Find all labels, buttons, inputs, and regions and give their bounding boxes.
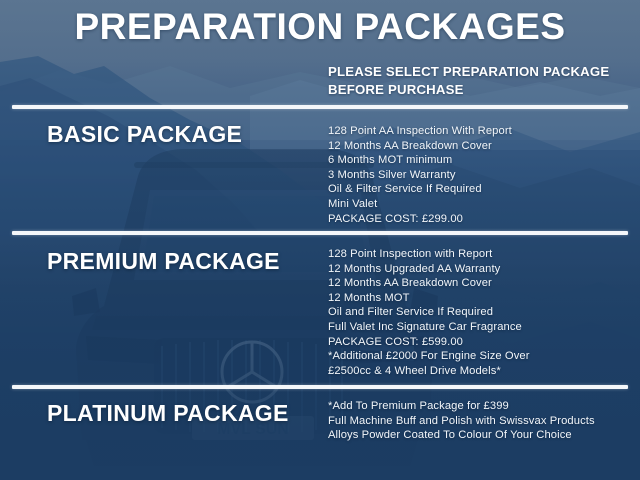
list-item: Oil & Filter Service If Required (328, 182, 512, 197)
package-features-premium: 128 Point Inspection with Report 12 Mont… (328, 247, 530, 378)
preparation-packages-poster: MVL SUN PREPARATION PACKAGES PLEASE SELE… (0, 0, 640, 480)
list-item: 3 Months Silver Warranty (328, 168, 512, 183)
divider-above-basic (12, 105, 628, 109)
selection-instruction: PLEASE SELECT PREPARATION PACKAGE BEFORE… (328, 63, 609, 99)
list-item: 128 Point AA Inspection With Report (328, 124, 512, 139)
list-item: 12 Months Upgraded AA Warranty (328, 262, 530, 277)
list-item: 12 Months MOT (328, 291, 530, 306)
divider-above-platinum (12, 385, 628, 389)
list-item: Full Machine Buff and Polish with Swissv… (328, 414, 595, 429)
page-title: PREPARATION PACKAGES (0, 6, 640, 48)
list-item: 6 Months MOT minimum (328, 153, 512, 168)
list-item: 12 Months AA Breakdown Cover (328, 276, 530, 291)
list-item: Full Valet Inc Signature Car Fragrance (328, 320, 530, 335)
list-item: 12 Months AA Breakdown Cover (328, 139, 512, 154)
package-cost-platinum: *Add To Premium Package for £399 (328, 399, 595, 414)
list-item: *Additional £2000 For Engine Size Over (328, 349, 530, 364)
divider-above-premium (12, 231, 628, 235)
package-title-premium[interactable]: PREMIUM PACKAGE (47, 248, 280, 275)
list-item: Alloys Powder Coated To Colour Of Your C… (328, 428, 595, 443)
package-title-platinum[interactable]: PLATINUM PACKAGE (47, 400, 289, 427)
selection-instruction-line-2: BEFORE PURCHASE (328, 81, 609, 99)
list-item: 128 Point Inspection with Report (328, 247, 530, 262)
package-title-basic[interactable]: BASIC PACKAGE (47, 121, 242, 148)
list-item: £2500cc & 4 Wheel Drive Models* (328, 364, 530, 379)
selection-instruction-line-1: PLEASE SELECT PREPARATION PACKAGE (328, 63, 609, 81)
package-cost-premium: PACKAGE COST: £599.00 (328, 335, 530, 350)
list-item: Oil and Filter Service If Required (328, 305, 530, 320)
package-cost-basic: PACKAGE COST: £299.00 (328, 212, 512, 227)
package-features-platinum: *Add To Premium Package for £399 Full Ma… (328, 399, 595, 443)
package-features-basic: 128 Point AA Inspection With Report 12 M… (328, 124, 512, 226)
list-item: Mini Valet (328, 197, 512, 212)
